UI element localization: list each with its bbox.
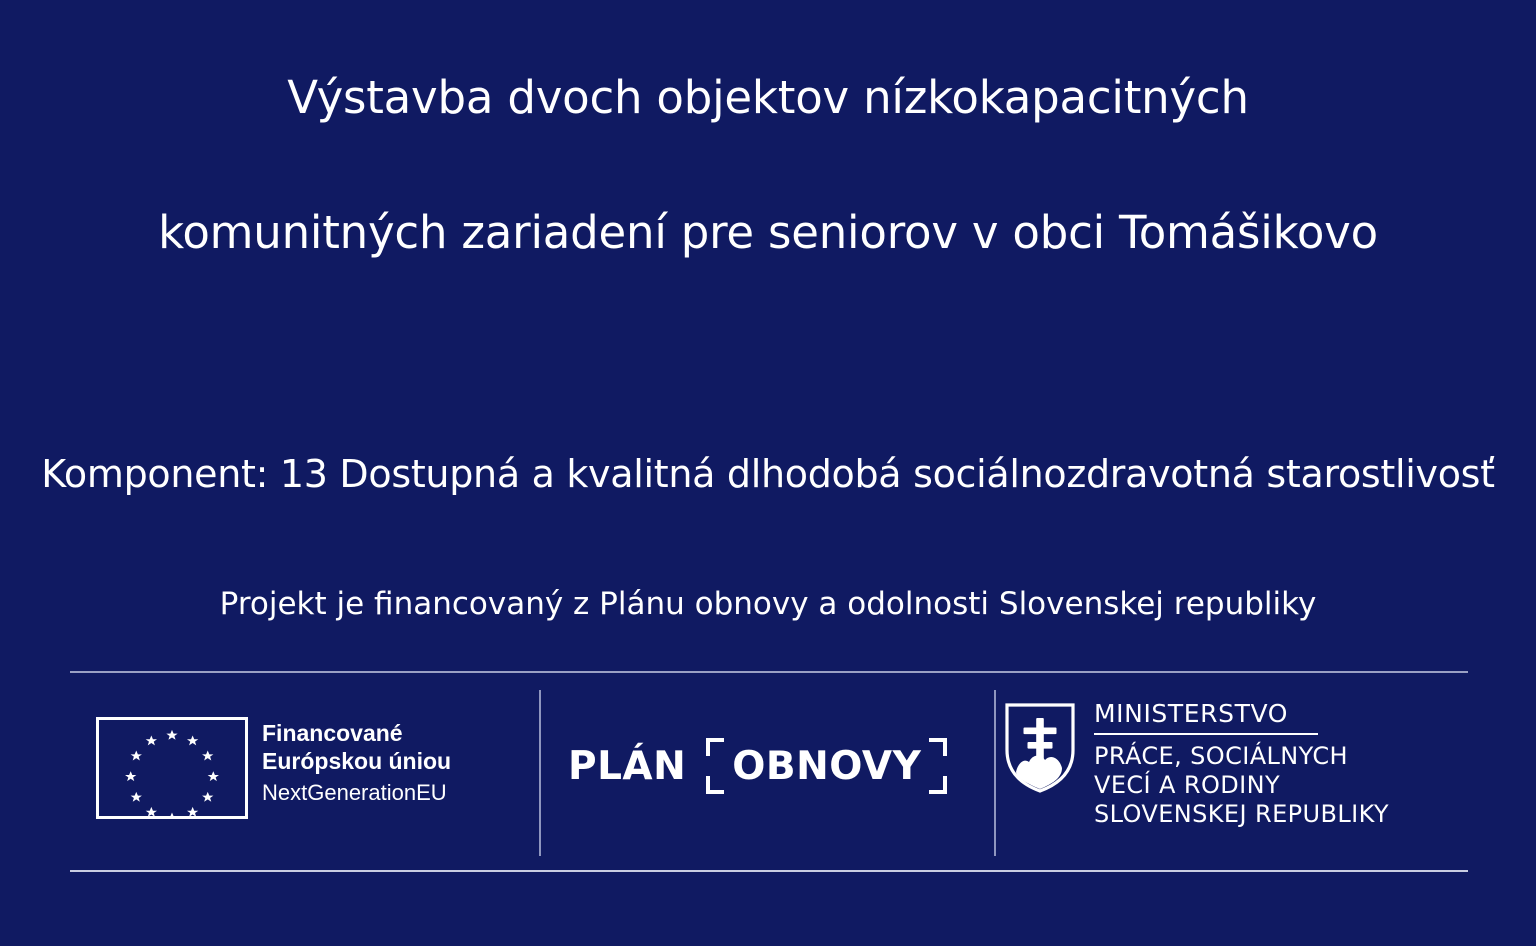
eu-text-line-1: Financované [262, 719, 451, 747]
corner-top-left-icon [706, 738, 724, 756]
plan-obnovy-word-obnovy: OBNOVY [732, 747, 921, 786]
slide-canvas: Výstavba dvoch objektov nízkokapacitných… [0, 0, 1536, 946]
ministry-line-3: VECÍ A RODINY [1094, 771, 1389, 800]
eu-stars-icon [99, 720, 245, 818]
plan-obnovy-word-plan: PLÁN [568, 747, 686, 786]
slovak-coat-of-arms-icon [1004, 702, 1076, 794]
eu-funding-logo: Financované Európskou úniou NextGenerati… [96, 717, 451, 819]
corner-top-right-icon [929, 738, 947, 756]
divider-top [70, 671, 1468, 673]
divider-bottom [70, 870, 1468, 872]
ministry-text-divider [1094, 733, 1318, 735]
ministry-line-1: MINISTERSTVO [1094, 700, 1389, 728]
ministry-line-4: SLOVENSKEJ REPUBLIKY [1094, 800, 1389, 829]
eu-logo-text: Financované Európskou úniou NextGenerati… [262, 717, 451, 808]
eu-flag-icon [96, 717, 248, 819]
plan-obnovy-bracket-frame: OBNOVY [706, 738, 947, 794]
corner-bottom-left-icon [706, 776, 724, 794]
ministry-line-2: PRÁCE, SOCIÁLNYCH [1094, 742, 1389, 771]
funding-statement: Projekt je financovaný z Plánu obnovy a … [0, 586, 1536, 622]
eu-text-line-3: NextGenerationEU [262, 779, 451, 808]
page-title: Výstavba dvoch objektov nízkokapacitných… [0, 74, 1536, 257]
corner-bottom-right-icon [929, 776, 947, 794]
title-line-1: Výstavba dvoch objektov nízkokapacitných [0, 74, 1536, 121]
title-line-2: komunitných zariadení pre seniorov v obc… [0, 209, 1536, 256]
component-line: Komponent: 13 Dostupná a kvalitná dlhodo… [0, 452, 1536, 496]
plan-obnovy-logo: PLÁN OBNOVY [568, 738, 947, 794]
ministry-logo: MINISTERSTVO PRÁCE, SOCIÁLNYCH VECÍ A RO… [1004, 700, 1389, 829]
ministry-logo-text: MINISTERSTVO PRÁCE, SOCIÁLNYCH VECÍ A RO… [1094, 700, 1389, 829]
eu-text-line-2: Európskou úniou [262, 747, 451, 775]
logo-row: Financované Európskou úniou NextGenerati… [0, 690, 1536, 870]
